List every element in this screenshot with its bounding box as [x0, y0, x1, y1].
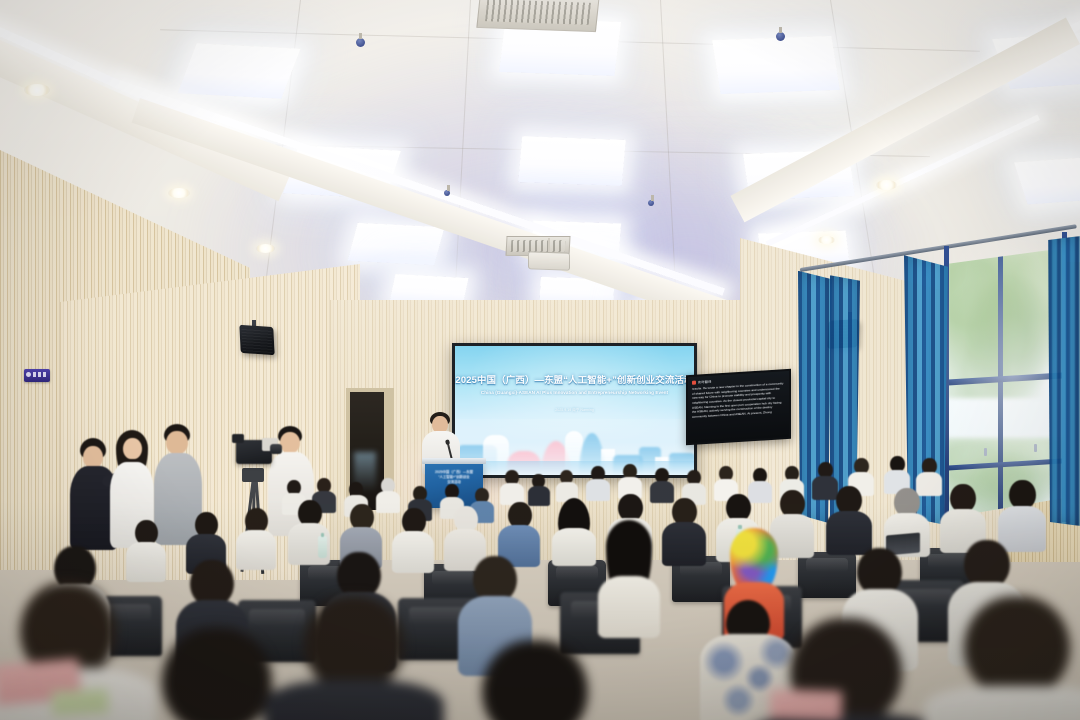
head — [280, 432, 300, 453]
torso — [268, 452, 314, 536]
chair — [424, 564, 482, 612]
hvac-vent — [476, 0, 599, 32]
foreground-person — [0, 582, 150, 720]
foreground-person — [268, 596, 438, 720]
chair — [884, 580, 964, 642]
pink-document-folder[interactable] — [769, 689, 842, 720]
podium-panel-text: 2025中国（广西）—东盟 “人工智能+”创新创业 交流活动 — [429, 470, 479, 485]
sprinkler-head — [776, 32, 785, 41]
slide-subtitle-english: China (Guangxi)-ASEAN AI Plus Innovation… — [455, 390, 694, 395]
audience-member — [842, 548, 918, 666]
doorway-light-spill — [354, 452, 376, 492]
sign-text-lines — [33, 372, 48, 377]
led-panel — [177, 43, 300, 99]
chair — [722, 586, 802, 648]
slide-skyline-illustration — [455, 419, 694, 475]
chair-leg — [372, 648, 375, 690]
standing-observer-2 — [110, 430, 156, 546]
foreground-person — [128, 628, 308, 720]
camera-viewfinder — [232, 434, 244, 443]
window-handle[interactable] — [984, 448, 987, 456]
tripod-head — [242, 468, 264, 482]
podium-text-line-3: 交流活动 — [429, 480, 479, 485]
projection-screen: 2025中国（广西）—东盟“人工智能+”创新创业交流活动 China (Guan… — [455, 346, 694, 475]
audience-member — [458, 556, 532, 672]
curtain-left-panel[interactable] — [798, 271, 832, 523]
downlight — [24, 84, 50, 96]
chair — [238, 600, 316, 662]
foreground-person — [756, 618, 936, 720]
chair — [86, 596, 162, 656]
led-panel — [712, 36, 840, 94]
downlight — [168, 188, 190, 198]
ponytail — [620, 576, 636, 630]
translation-body-text: results. He wrote a new chapter in the c… — [692, 381, 785, 419]
chair — [548, 560, 606, 606]
slide-title-chinese: 2025中国（广西）—东盟“人工智能+”创新创业交流活动 — [455, 372, 694, 386]
foreground-person — [450, 640, 620, 720]
projector — [528, 251, 570, 270]
podium: 2025中国（广西）—东盟 “人工智能+”创新创业 交流活动 — [425, 462, 483, 508]
curtain-middle-panel[interactable] — [904, 255, 948, 527]
patterned-dress — [700, 634, 796, 720]
head — [166, 431, 188, 454]
chair — [398, 598, 478, 660]
hvac-vanes — [485, 0, 591, 25]
podium-top-surface — [422, 458, 486, 464]
chair — [560, 592, 640, 654]
head — [83, 446, 103, 468]
standing-observer-3 — [152, 424, 204, 546]
blue-wall-sign — [24, 369, 50, 382]
led-panel — [518, 136, 626, 186]
slide-date-location: 2025.9.19 南宁 Nanning — [455, 408, 694, 413]
projection-screen-frame: 2025中国（广西）—东盟“人工智能+”创新创业交流活动 China (Guan… — [452, 343, 697, 478]
translation-badge-label: 实时翻译 — [698, 379, 712, 385]
camera-lens — [270, 444, 282, 454]
hvac-vanes — [510, 240, 565, 252]
head — [123, 438, 142, 459]
led-panel — [1014, 158, 1080, 205]
wall-speaker-left — [239, 325, 274, 356]
torso — [110, 462, 154, 548]
led-panel — [348, 223, 445, 266]
sprinkler-head — [444, 190, 450, 196]
window-handle[interactable] — [1034, 444, 1037, 452]
sprinkler-head — [648, 200, 654, 206]
downlight — [876, 180, 897, 190]
sprinkler-head — [356, 38, 365, 47]
curtain-right-panel[interactable] — [1048, 236, 1080, 526]
translation-monitor: 实时翻译 results. He wrote a new chapter in … — [688, 371, 789, 443]
conference-photo: 2025中国（广西）—东盟“人工智能+”创新创业交流活动 China (Guan… — [0, 0, 1080, 720]
torso — [154, 453, 202, 545]
window-right — [946, 248, 1064, 518]
window-mullion-vertical — [998, 248, 1003, 518]
downlight — [818, 236, 835, 244]
pink-document-folder[interactable] — [0, 658, 82, 705]
curtain-panel[interactable] — [830, 275, 860, 525]
record-dot-icon — [692, 380, 696, 384]
foreground-person — [930, 596, 1080, 720]
chair-leg — [206, 646, 209, 688]
translation-monitor-frame: 实时翻译 results. He wrote a new chapter in … — [686, 369, 791, 445]
chair — [672, 556, 730, 602]
dark-doorway[interactable] — [350, 392, 384, 510]
audience-member-patterned — [700, 600, 796, 720]
downlight — [256, 244, 275, 253]
green-document-folder[interactable] — [51, 689, 108, 716]
sign-icon — [26, 372, 31, 377]
